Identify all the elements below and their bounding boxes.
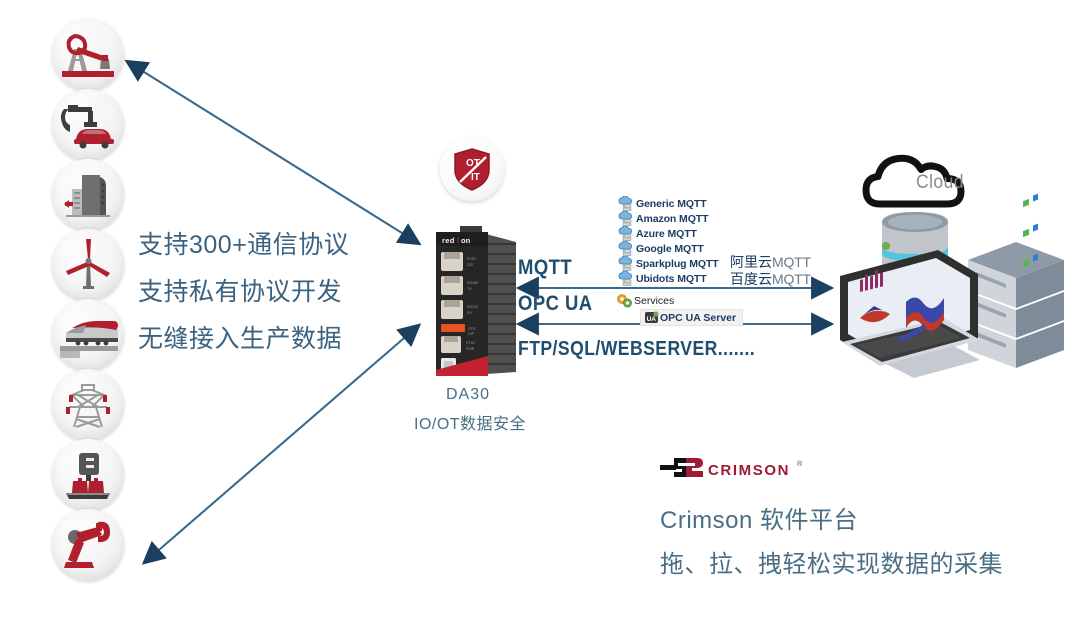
feature-text-2: 支持私有协议开发: [138, 272, 342, 308]
svg-text:232: 232: [467, 263, 473, 267]
service-label: Amazon MQTT: [636, 213, 708, 225]
service-label: Generic MQTT: [636, 198, 707, 210]
svg-text:DIP: DIP: [468, 332, 475, 336]
svg-text:CFG: CFG: [468, 327, 476, 331]
cn-cloud-aliyun-cn: 阿里云: [730, 254, 772, 270]
cn-cloud-baidu-cn: 百度云: [730, 271, 772, 287]
feature-text-3: 无缝接入生产数据: [138, 319, 342, 355]
cloud-stack-icon: [618, 211, 636, 226]
cn-cloud-baidu-protocol: MQTT: [772, 271, 811, 287]
service-row[interactable]: Azure MQTT: [618, 226, 828, 241]
protocol-label-ftp: FTP/SQL/WEBSERVER.......: [518, 338, 755, 361]
cloud-stack-icon: [618, 226, 636, 241]
cloud-stack-icon: [618, 196, 636, 211]
svg-text:ETH1: ETH1: [467, 257, 476, 261]
service-label: Ubidots MQTT: [636, 273, 707, 285]
arrow-devices-to-gateway-bottom: [145, 326, 418, 562]
protocol-label-opc-ua: OPC UA: [518, 292, 593, 316]
device-subtitle-label: IO/OT数据安全: [414, 410, 526, 434]
cloud-stack-icon: [618, 256, 636, 271]
crimson-registered-mark: ®: [797, 460, 803, 468]
service-label: Azure MQTT: [636, 228, 697, 240]
ot-it-shield-badge: OT IT: [440, 137, 504, 201]
industry-icon-automotive-robot: [52, 89, 124, 161]
laptop-with-dashboard: [840, 250, 980, 378]
svg-text:l: l: [457, 236, 459, 245]
opc-ua-server-label: OPC UA Server: [660, 312, 736, 324]
svg-text:PWR: PWR: [466, 347, 475, 351]
cloud-stack-icon: [618, 271, 636, 286]
svg-text:RX: RX: [467, 311, 473, 315]
svg-text:UA: UA: [647, 316, 657, 323]
opc-ua-server-node[interactable]: UA OPC UA Server: [640, 309, 743, 326]
crimson-mark-bar: [660, 465, 676, 470]
protocol-label-mqtt: MQTT: [518, 256, 572, 280]
cloud-label: Cloud: [916, 172, 964, 194]
industry-icon-oil-pumpjack: [52, 19, 124, 91]
opc-ua-icon: UA: [643, 310, 660, 325]
shield-label-it: IT: [471, 172, 480, 183]
device-brand-text: red: [442, 236, 455, 245]
svg-text:RS232: RS232: [467, 305, 478, 309]
industry-icon-factory-plant: [52, 159, 124, 231]
device-model-label: DA30: [446, 386, 490, 404]
industry-icon-robotic-arm: [52, 509, 124, 581]
cn-cloud-aliyun-protocol: MQTT: [772, 254, 811, 270]
gears-icon: [616, 293, 634, 309]
industry-icon-wind-turbine: [52, 229, 124, 301]
crimson-mark-glyph: [674, 458, 687, 477]
crimson-tagline-2: 拖、拉、拽轻松实现数据的采集: [660, 544, 1003, 579]
shield-label-ot: OT: [466, 158, 480, 169]
industry-icon-high-speed-train: [52, 299, 124, 371]
services-tree-node[interactable]: Services: [616, 293, 674, 309]
svg-text:TX: TX: [467, 287, 472, 291]
service-label: Sparkplug MQTT: [636, 258, 719, 270]
rj45-ports: [441, 252, 463, 319]
feature-text-1: 支持300+通信协议: [138, 225, 349, 261]
diagram-canvas: 支持300+通信协议 支持私有协议开发 无缝接入生产数据 OT IT: [0, 0, 1080, 629]
arrow-devices-to-gateway-top: [128, 62, 418, 243]
crimson-tagline-1: Crimson 软件平台: [660, 500, 858, 535]
service-label: Google MQTT: [636, 243, 704, 255]
svg-text:on: on: [461, 236, 471, 245]
cloud-stack-icon: [618, 241, 636, 256]
services-label: Services: [634, 295, 674, 307]
cn-cloud-baidu: 百度云MQTT: [730, 269, 811, 289]
svg-text:RS485: RS485: [467, 281, 478, 285]
service-row[interactable]: Generic MQTT: [618, 196, 828, 211]
dip-switch: [441, 324, 465, 332]
svg-text:ETH2: ETH2: [466, 341, 475, 345]
service-row[interactable]: Amazon MQTT: [618, 211, 828, 226]
crimson-mark-glyph-red: [686, 458, 703, 477]
industry-icon-transmission-tower: [52, 369, 124, 441]
crimson-logo: CRIMSON ®: [660, 456, 810, 484]
server-stack: [968, 194, 1064, 368]
crimson-wordmark: CRIMSON: [708, 462, 790, 479]
industry-icon-bottling-line: [52, 439, 124, 511]
